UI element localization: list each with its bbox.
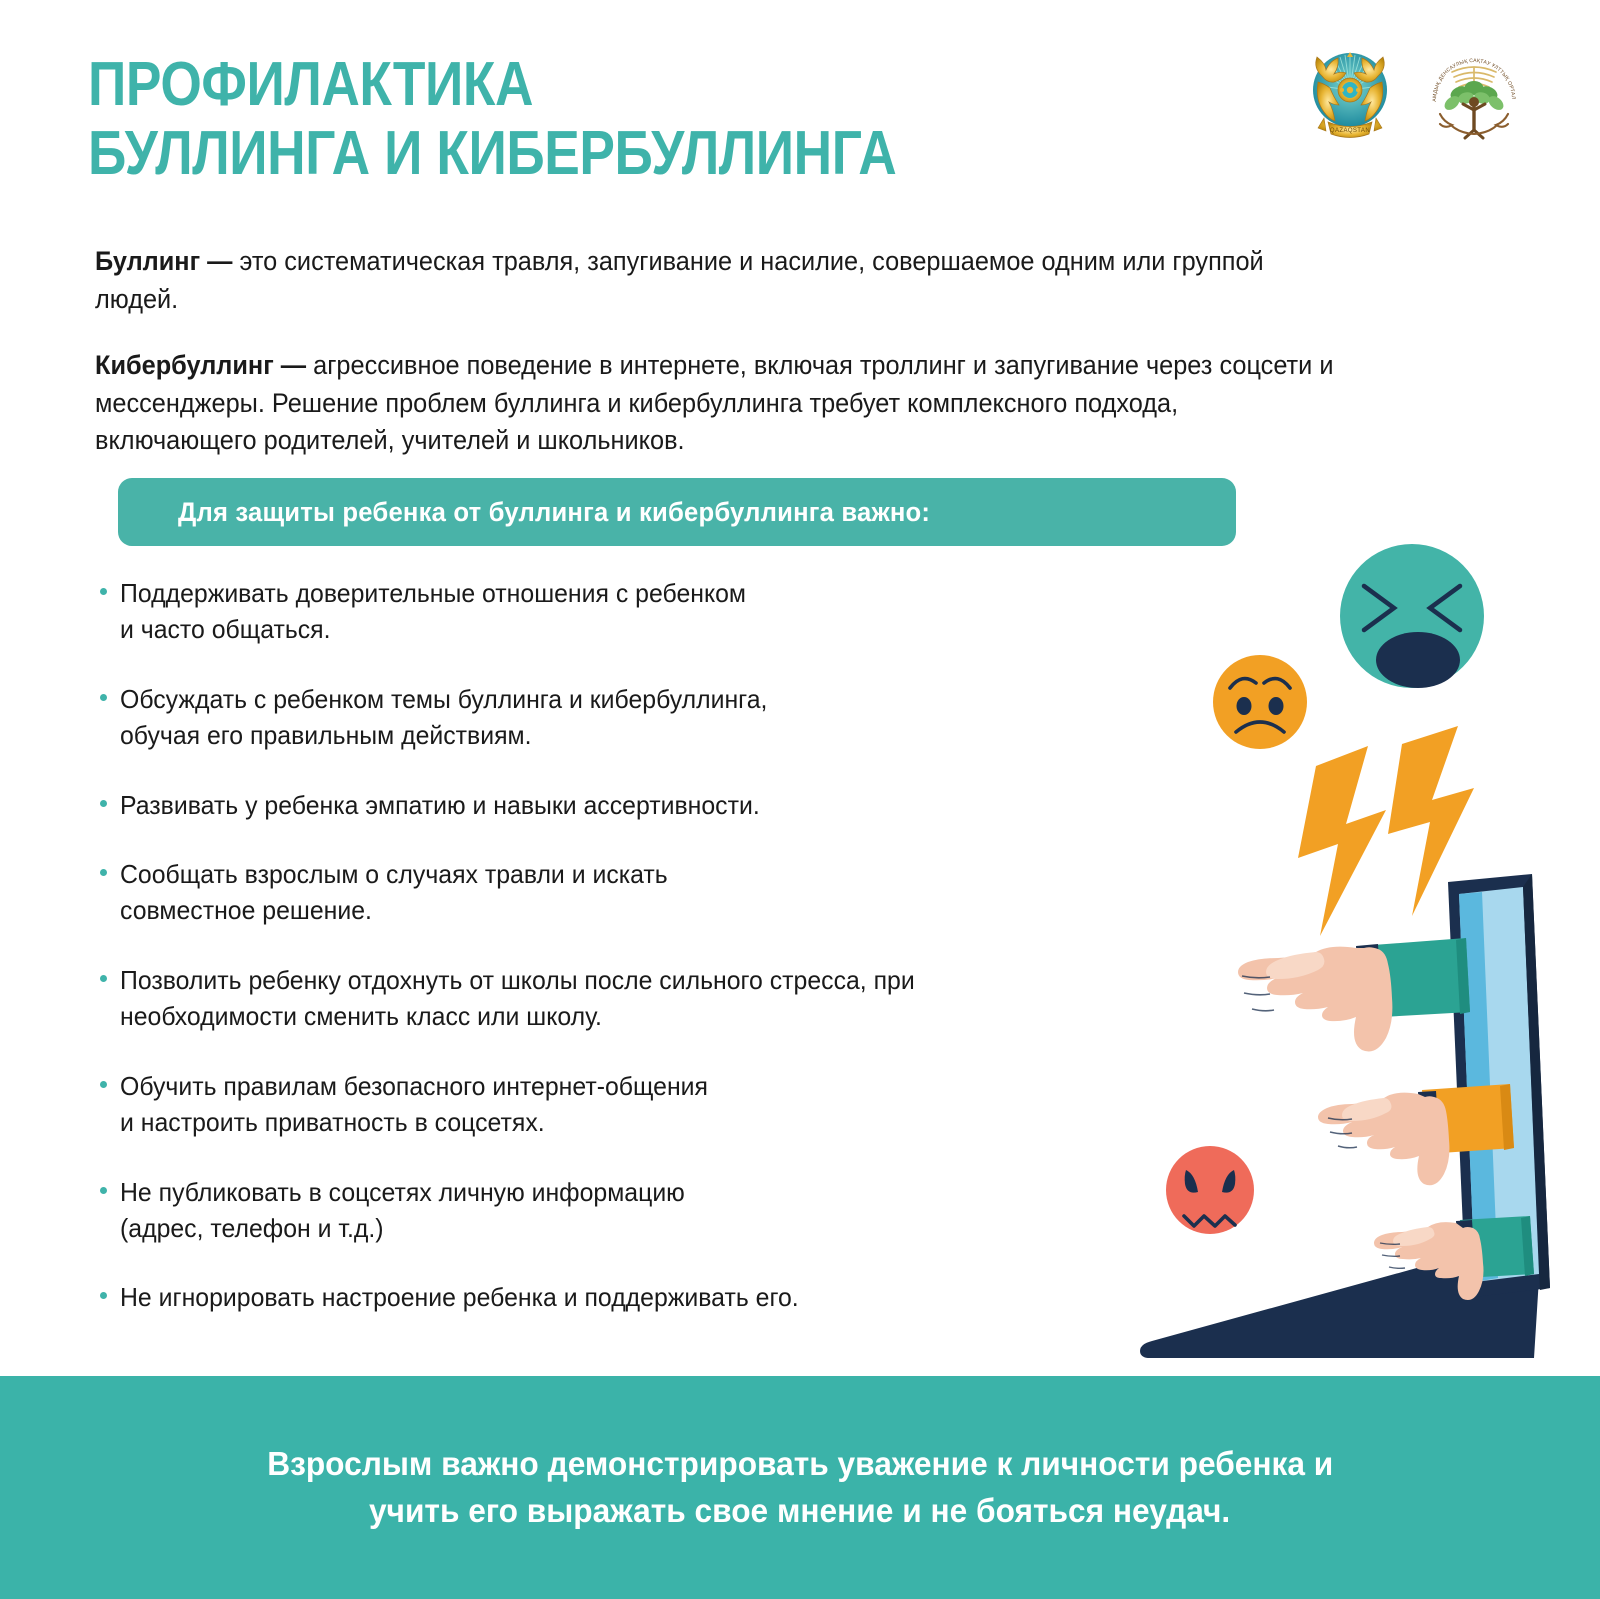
list-item-text: Не игнорировать настроение ребенка и под… xyxy=(120,1280,1130,1316)
title-line-2: БУЛЛИНГА И КИБЕРБУЛЛИНГА xyxy=(88,119,1034,188)
bullet-dot-icon xyxy=(100,1292,107,1299)
list-item-text: Сообщать взрослым о случаях травли и иск… xyxy=(120,857,1130,929)
kazakhstan-coat-of-arms-logo: QAZAQSTAN xyxy=(1302,38,1398,148)
section-banner-label: Для защиты ребенка от буллинга и кибербу… xyxy=(178,497,930,528)
section-banner: Для защиты ребенка от буллинга и кибербу… xyxy=(118,478,1236,546)
list-item-text: Позволить ребенку отдохнуть от школы пос… xyxy=(120,963,1130,1035)
list-item: Не игнорировать настроение ребенка и под… xyxy=(98,1280,1178,1316)
list-item: Обучить правилам безопасного интернет-об… xyxy=(98,1069,1178,1141)
list-item-line-1: Не игнорировать настроение ребенка и под… xyxy=(120,1280,1130,1316)
list-item-line-1: Позволить ребенку отдохнуть от школы пос… xyxy=(120,963,1130,999)
list-item: Поддерживать доверительные отношения с р… xyxy=(98,576,1178,648)
illustration-bullying-scene xyxy=(1130,530,1600,1390)
list-item-line-2: совместное решение. xyxy=(120,893,1130,929)
list-item-text: Обучить правилам безопасного интернет-об… xyxy=(120,1069,1130,1141)
bullet-dot-icon xyxy=(100,800,107,807)
list-item: Сообщать взрослым о случаях травли и иск… xyxy=(98,857,1178,929)
list-item-line-1: Поддерживать доверительные отношения с р… xyxy=(120,576,1130,612)
list-item-line-2: необходимости сменить класс или школу. xyxy=(120,999,1130,1035)
list-item-line-2: (адрес, телефон и т.д.) xyxy=(120,1211,1130,1247)
bullet-dot-icon xyxy=(100,975,107,982)
bullet-dot-icon xyxy=(100,869,107,876)
sad-face-orange xyxy=(1213,655,1307,749)
title-line-1: ПРОФИЛАКТИКА xyxy=(88,50,1034,119)
list-item-text: Развивать у ребенка эмпатию и навыки асс… xyxy=(120,788,1130,824)
list-item-line-2: обучая его правильным действиям. xyxy=(120,718,1130,754)
list-item: Обсуждать с ребенком темы буллинга и киб… xyxy=(98,682,1178,754)
svg-text:QAZAQSTAN: QAZAQSTAN xyxy=(1330,128,1370,134)
list-item-text: Обсуждать с ребенком темы буллинга и киб… xyxy=(120,682,1130,754)
list-item-line-1: Развивать у ребенка эмпатию и навыки асс… xyxy=(120,788,1130,824)
list-item-line-1: Сообщать взрослым о случаях травли и иск… xyxy=(120,857,1130,893)
bullet-dot-icon xyxy=(100,588,107,595)
national-public-health-center-logo: ҚОҒАМДЫҚ ДЕНСАУЛЫҚ САҚТАУ ҰЛТТЫҚ ОРТАЛЫҒ… xyxy=(1426,38,1522,148)
page-title: ПРОФИЛАКТИКА БУЛЛИНГА И КИБЕРБУЛЛИНГА xyxy=(88,50,1034,189)
footer-line-2: учить его выражать свое мнение и не боят… xyxy=(369,1488,1230,1535)
logo-group: QAZAQSTAN ҚОҒАМДЫҚ ДЕНСАУЛЫҚ САҚТАУ ҰЛТТ… xyxy=(1302,38,1522,148)
list-item-text: Поддерживать доверительные отношения с р… xyxy=(120,576,1130,648)
list-item-line-1: Обсуждать с ребенком темы буллинга и киб… xyxy=(120,682,1130,718)
term-bullying: Буллинг — xyxy=(95,246,232,276)
screaming-face-teal xyxy=(1340,544,1484,688)
list-item-line-1: Обучить правилам безопасного интернет-об… xyxy=(120,1069,1130,1105)
lightning-bolt-left xyxy=(1298,746,1386,936)
advice-list: Поддерживать доверительные отношения с р… xyxy=(98,576,1178,1350)
list-item-line-2: и настроить приватность в соцсетях. xyxy=(120,1105,1130,1141)
bullet-dot-icon xyxy=(100,1187,107,1194)
list-item: Развивать у ребенка эмпатию и навыки асс… xyxy=(98,788,1178,824)
list-item-line-1: Не публиковать в соцсетях личную информа… xyxy=(120,1175,1130,1211)
list-item: Позволить ребенку отдохнуть от школы пос… xyxy=(98,963,1178,1035)
bullet-dot-icon xyxy=(100,694,107,701)
footer-banner: Взрослым важно демонстрировать уважение … xyxy=(0,1376,1600,1599)
term-cyberbullying: Кибербуллинг — xyxy=(95,350,306,380)
angry-face-red xyxy=(1166,1146,1254,1234)
list-item-line-2: и часто общаться. xyxy=(120,612,1130,648)
list-item: Не публиковать в соцсетях личную информа… xyxy=(98,1175,1178,1247)
footer-line-1: Взрослым важно демонстрировать уважение … xyxy=(267,1441,1333,1488)
definition-bullying-text: это систематическая травля, запугивание … xyxy=(95,246,1264,314)
pointing-hand-teal-sleeve-top xyxy=(1238,938,1470,1052)
bullet-dot-icon xyxy=(100,1081,107,1088)
definition-bullying: Буллинг — это систематическая травля, за… xyxy=(95,243,1337,318)
definition-cyberbullying: Кибербуллинг — агрессивное поведение в и… xyxy=(95,347,1337,460)
list-item-text: Не публиковать в соцсетях личную информа… xyxy=(120,1175,1130,1247)
